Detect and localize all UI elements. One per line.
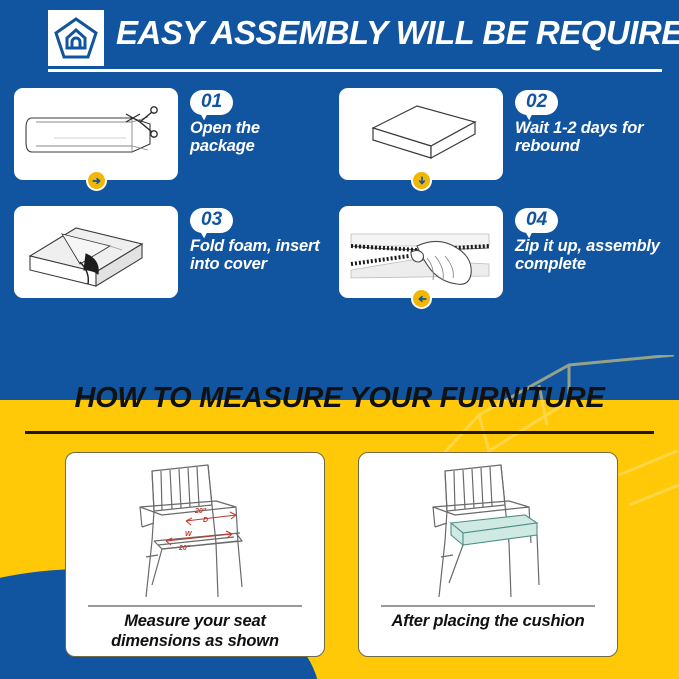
hand-zipping-cover-icon [339,206,503,298]
measure-card-caption: After placing the cushion [367,611,609,631]
step-text: 04 Zip it up, assembly complete [515,208,667,273]
page-title: EASY ASSEMBLY WILL BE REQUIRED [116,14,679,52]
measure-card: 20″ D W 20″ Measure your seat dimensions… [65,452,325,657]
step-item: 03 Fold foam, insert into cover [14,206,344,309]
step-illustration-card [339,206,503,298]
dimension-width-value: 20″ [178,545,191,552]
card-divider [381,605,595,607]
pentagon-house-icon [48,10,104,66]
step-text: 02 Wait 1-2 days for rebound [515,90,667,155]
chair-with-cushion-icon [359,457,617,597]
assembly-steps: 01 Open the package [0,88,679,303]
arrow-right-icon [86,170,107,191]
header-divider [48,69,662,72]
package-with-scissors-icon [14,88,178,180]
step-label: Open the package [190,119,342,155]
step-item: 02 Wait 1-2 days for rebound [339,88,669,191]
step-illustration-card [14,206,178,298]
step-number-badge: 02 [515,90,558,115]
step-label: Zip it up, assembly complete [515,237,667,273]
foam-slab-icon [339,88,503,180]
arrow-down-icon [411,170,432,191]
step-illustration-card [14,88,178,180]
measure-section-title: HOW TO MEASURE YOUR FURNITURE [0,382,679,415]
arrow-left-icon [411,288,432,309]
measure-card: After placing the cushion [358,452,618,657]
step-number-badge: 01 [190,90,233,115]
dimension-depth-value: 20″ [194,508,207,515]
measure-card-caption: Measure your seat dimensions as shown [74,611,316,651]
fold-foam-into-cover-icon [14,206,178,298]
dimension-depth-axis: D [203,517,208,524]
card-divider [88,605,302,607]
step-text: 03 Fold foam, insert into cover [190,208,342,273]
infographic-page: EASY ASSEMBLY WILL BE REQUIRED [0,0,679,679]
step-number-badge: 04 [515,208,558,233]
step-label: Fold foam, insert into cover [190,237,342,273]
step-label: Wait 1-2 days for rebound [515,119,667,155]
step-item: 01 Open the package [14,88,344,191]
chair-with-dimensions-icon: 20″ D W 20″ [66,457,324,597]
step-illustration-card [339,88,503,180]
measure-divider [25,431,654,434]
step-number-badge: 03 [190,208,233,233]
step-text: 01 Open the package [190,90,342,155]
header: EASY ASSEMBLY WILL BE REQUIRED [0,0,679,78]
measure-cards: 20″ D W 20″ Measure your seat dimensions… [0,452,679,652]
step-item: 04 Zip it up, assembly complete [339,206,669,309]
